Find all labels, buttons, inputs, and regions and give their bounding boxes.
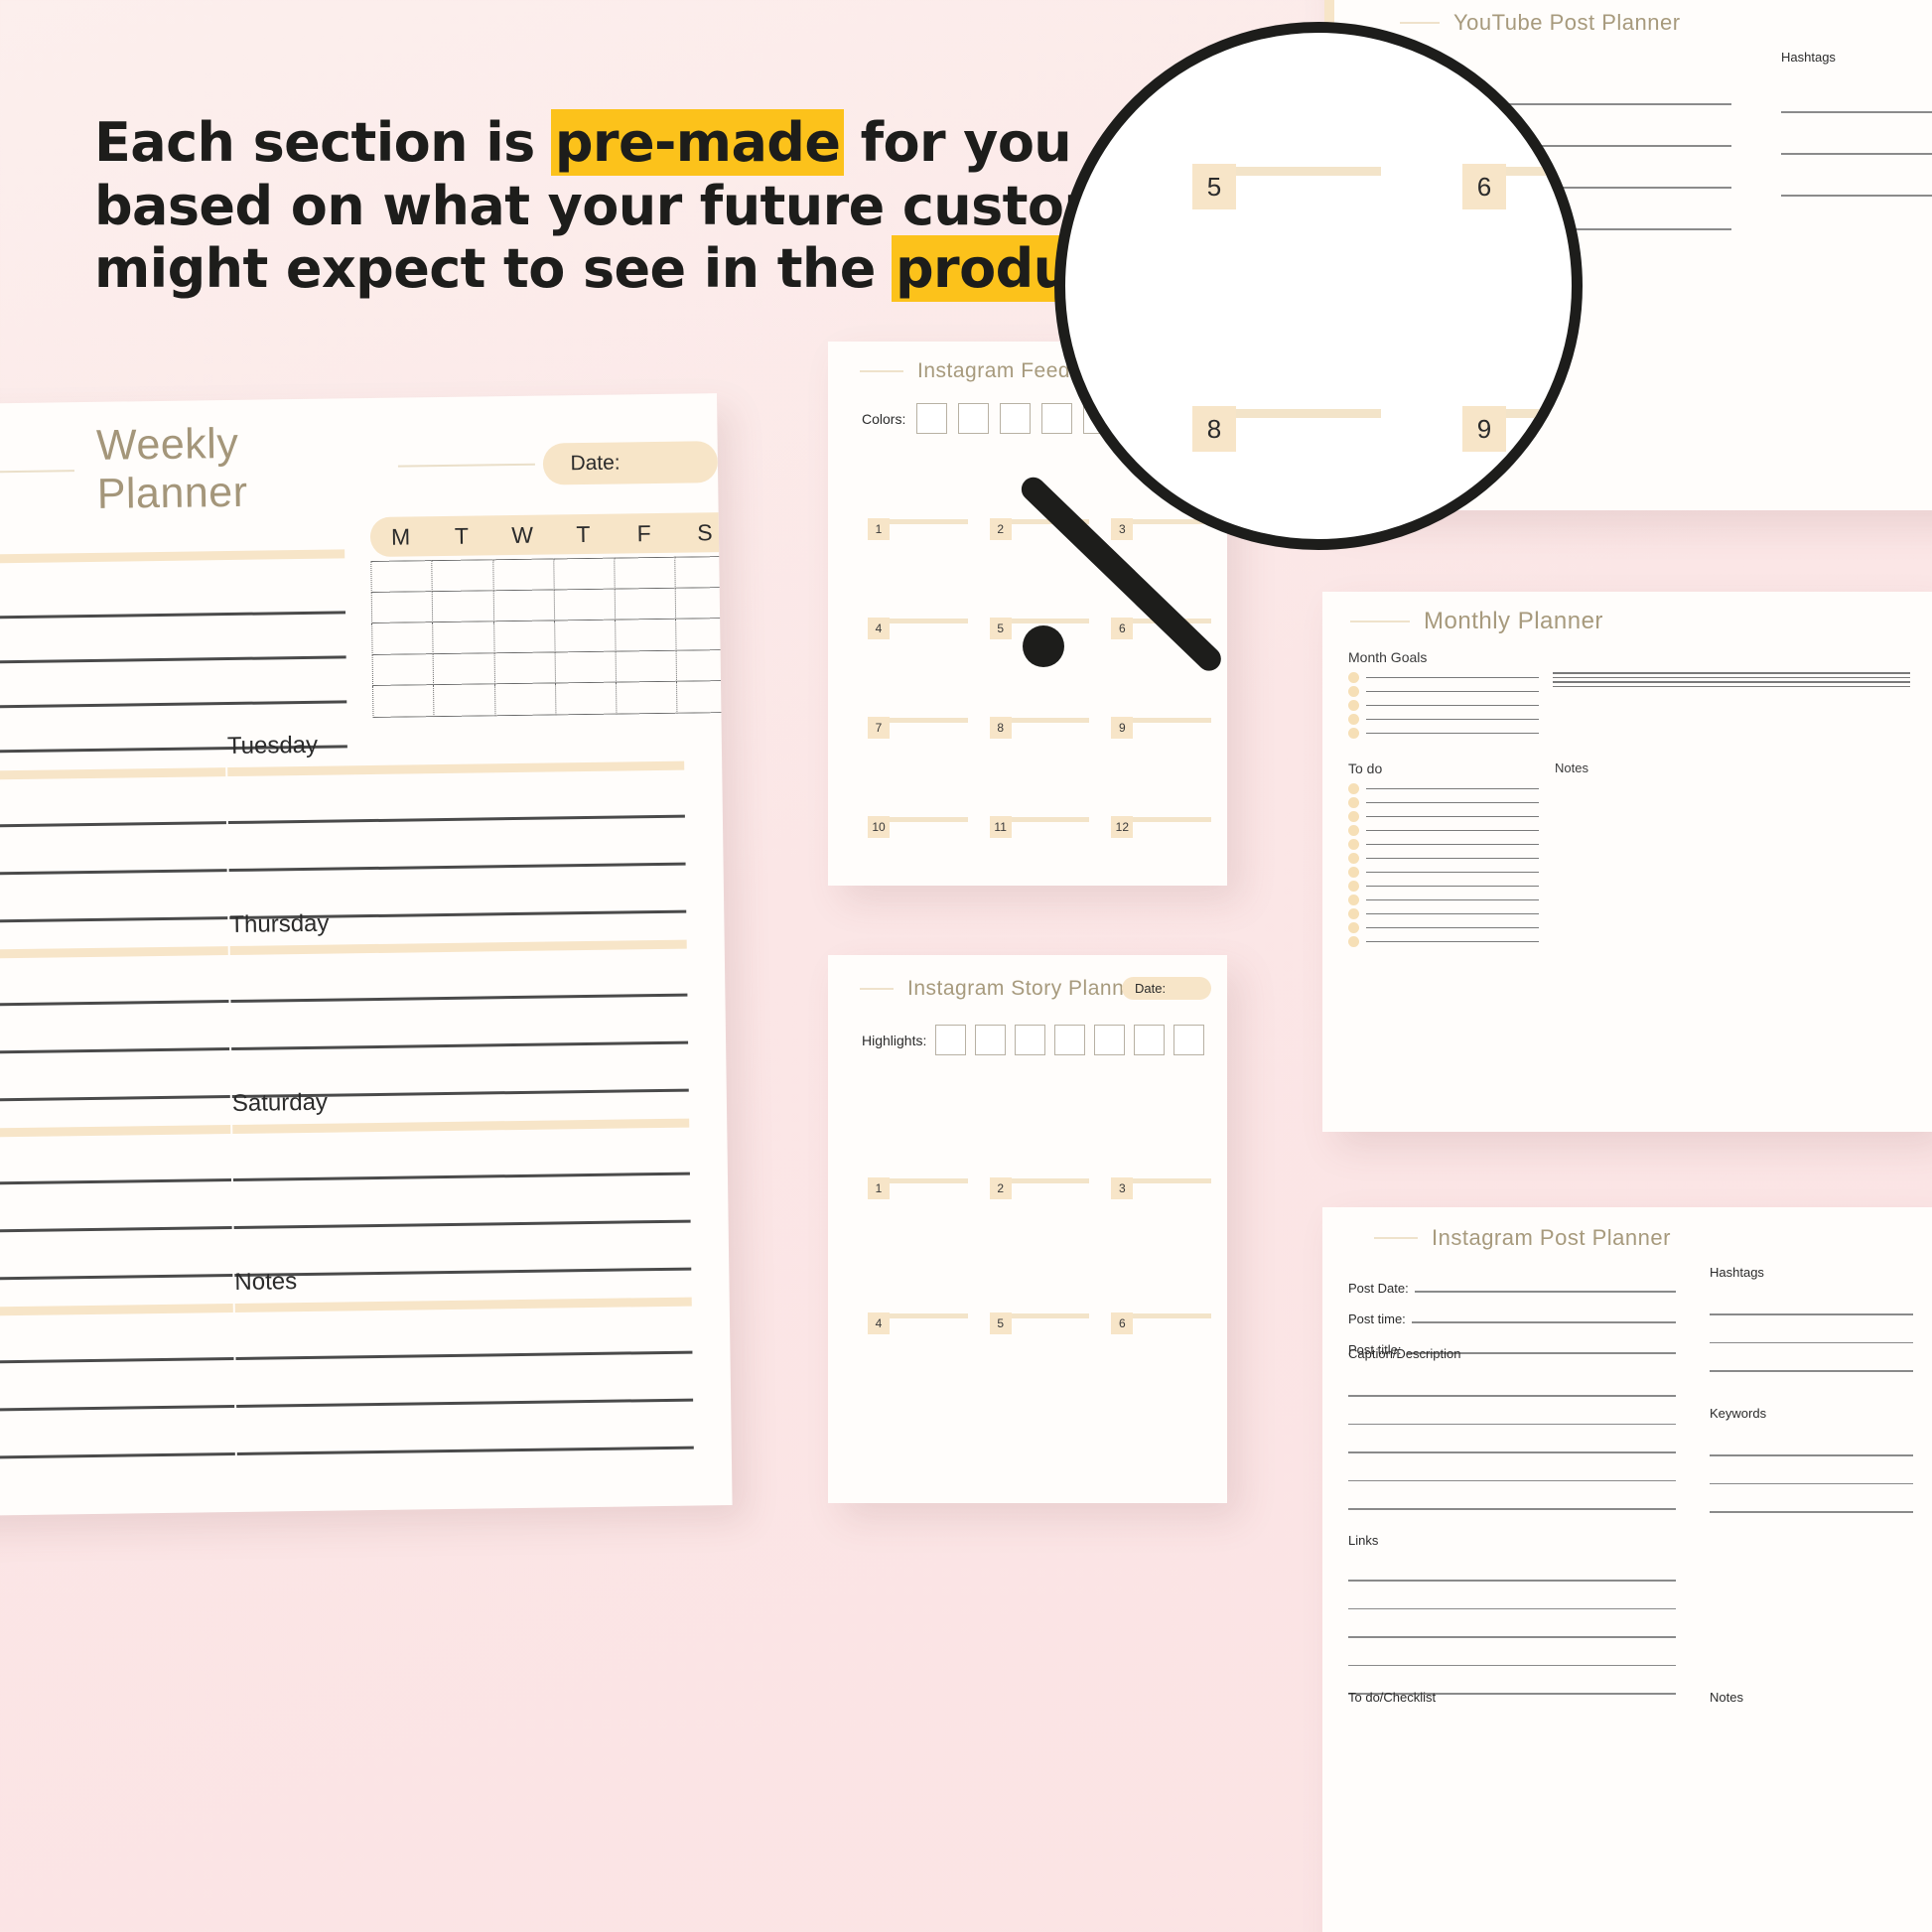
bullet-row[interactable] (1348, 867, 1539, 878)
headline-line-1: Each section is pre-made for you (94, 111, 1037, 175)
write-line[interactable] (1366, 705, 1539, 707)
cell-number: 6 (1111, 618, 1133, 639)
tracker-cell[interactable] (675, 587, 732, 619)
monthly-todo-label: To do (1348, 760, 1382, 776)
cell-number: 11 (990, 816, 1012, 838)
write-line[interactable] (1553, 672, 1910, 674)
cell-number: 9 (1462, 406, 1506, 452)
highlight-swatch[interactable] (1173, 1025, 1204, 1055)
story-cell[interactable]: 5 (990, 1209, 1090, 1334)
tracker-cell[interactable] (492, 558, 554, 590)
story-cell[interactable]: 2 (990, 1074, 1090, 1199)
tracker-cell[interactable] (371, 622, 433, 654)
story-cell[interactable]: 1 (868, 1074, 968, 1199)
highlight-swatch[interactable] (1015, 1025, 1045, 1055)
weekly-planner-title: Weekly Planner (96, 418, 377, 519)
post-fields: Post Date: Post time: Post title: (1348, 1265, 1676, 1357)
bullet-dot-icon (1348, 672, 1359, 683)
bullet-row[interactable] (1348, 811, 1539, 822)
bullet-row[interactable] (1348, 672, 1539, 683)
tracker-cell[interactable] (615, 620, 676, 651)
write-line[interactable] (0, 869, 227, 878)
magnified-cell: 6 (1462, 164, 1583, 209)
story-grid: 1 2 3 4 5 6 (868, 1074, 1211, 1334)
day-label: day (0, 733, 225, 766)
write-line[interactable] (0, 1405, 234, 1414)
cell-line (1012, 1178, 1090, 1183)
monthly-todo-list[interactable] (1348, 780, 1539, 947)
tracker-cell[interactable] (676, 650, 733, 682)
tracker-cell[interactable] (372, 654, 434, 686)
headline-text-1b: for you (842, 111, 1071, 174)
write-line[interactable] (237, 1447, 694, 1455)
day-accent-bar (0, 1125, 230, 1140)
story-date-field[interactable]: Date: (1122, 977, 1211, 1000)
cell-line (1236, 409, 1381, 418)
cell-number: 5 (990, 1312, 1012, 1334)
cell-line (890, 1178, 968, 1183)
write-line[interactable] (1366, 802, 1539, 804)
tracker-cell[interactable] (616, 651, 677, 683)
bullet-row[interactable] (1348, 686, 1539, 697)
write-line[interactable] (1366, 844, 1539, 846)
day-accent-bar (0, 767, 225, 782)
cell-line (1012, 1313, 1090, 1318)
bullet-row[interactable] (1553, 672, 1910, 674)
bullet-row[interactable] (1348, 895, 1539, 905)
bullet-row[interactable] (1553, 686, 1910, 688)
bullet-dot-icon (1348, 686, 1359, 697)
bullet-row[interactable] (1348, 728, 1539, 739)
bullet-dot-icon (1348, 922, 1359, 933)
cell-number: 12 (1111, 816, 1133, 838)
header-rule-left (0, 470, 74, 475)
bullet-row[interactable] (1348, 853, 1539, 864)
day-lines[interactable] (230, 994, 688, 1098)
tracker-cell[interactable] (555, 683, 617, 715)
cell-number: 9 (1111, 717, 1133, 739)
day-label: day (0, 1269, 233, 1303)
cell-number: 2 (990, 1177, 1012, 1199)
weekly-habit-tracker[interactable]: M T W T F S S (370, 511, 733, 718)
headline-line-3: might expect to see in the product. (94, 237, 1037, 301)
highlight-swatch[interactable] (1054, 1025, 1085, 1055)
cell-line (1133, 1178, 1211, 1183)
feed-cell[interactable]: 7 (868, 649, 968, 739)
color-swatch[interactable] (958, 403, 989, 434)
bullet-dot-icon (1348, 783, 1359, 794)
write-line[interactable] (0, 1452, 235, 1461)
tracker-cell[interactable] (432, 621, 493, 653)
day-accent-bar (230, 940, 687, 955)
monthly-goals-label: Month Goals (1348, 649, 1427, 665)
header-rule-right (398, 464, 534, 468)
post-notes-label: Notes (1710, 1690, 1743, 1705)
cell-line (890, 718, 968, 723)
write-line[interactable] (0, 655, 346, 666)
bullet-dot-icon (1348, 700, 1359, 711)
weekday-header-row: M T W T F S S (370, 511, 733, 557)
write-line[interactable] (1553, 681, 1910, 683)
write-line[interactable] (1415, 1291, 1676, 1293)
tracker-grid[interactable] (370, 555, 732, 718)
day-accent-bar (235, 1298, 692, 1312)
day-label: nesday (0, 911, 228, 945)
tracker-cell[interactable] (494, 684, 556, 716)
bullet-dot-icon (1348, 797, 1359, 808)
post-links-lines[interactable] (1348, 1553, 1676, 1695)
cell-line (1133, 718, 1211, 723)
monthly-planner-title: Monthly Planner (1424, 608, 1603, 635)
cell-line (890, 817, 968, 822)
write-line[interactable] (1710, 1313, 1913, 1315)
story-inner: Instagram Story Planner Date: Highlights… (828, 955, 1227, 1503)
weekly-goals-lines[interactable] (0, 569, 347, 756)
post-caption-lines[interactable] (1348, 1368, 1676, 1510)
bullet-row[interactable] (1348, 908, 1539, 919)
bullet-dot-icon (1348, 881, 1359, 892)
magnified-cell: 5 (1192, 164, 1381, 209)
magnified-cell: 9 (1462, 406, 1583, 452)
headline-highlight-premade: pre-made (553, 111, 843, 174)
write-line[interactable] (0, 1226, 232, 1235)
cell-number: 1 (868, 1177, 890, 1199)
cell-line (1133, 817, 1211, 822)
monthly-goals-list[interactable] (1348, 669, 1539, 739)
monthly-notes-list[interactable] (1553, 669, 1910, 687)
weekday-label-w: W (491, 521, 553, 549)
bullet-dot-icon (1348, 811, 1359, 822)
write-line[interactable] (1348, 1665, 1676, 1667)
tracker-cell[interactable] (675, 556, 733, 588)
write-line[interactable] (1348, 1608, 1676, 1610)
bullet-row[interactable] (1348, 881, 1539, 892)
cell-number: 3 (1111, 1177, 1133, 1199)
highlight-swatch[interactable] (1094, 1025, 1125, 1055)
weekly-planner-inner: Weekly Planner Date: Goals M T W T F (0, 393, 733, 1517)
story-planner-title-row: Instagram Story Planner (860, 977, 1144, 1001)
headline-text-1a: Each section is (94, 111, 553, 174)
day-lines[interactable] (228, 815, 686, 919)
write-line[interactable] (1710, 1342, 1913, 1344)
write-line[interactable] (1412, 1321, 1676, 1323)
feed-colors-label: Colors: (862, 411, 905, 427)
bullet-dot-icon (1348, 936, 1359, 947)
post-time-field[interactable]: Post time: (1348, 1311, 1676, 1326)
feed-cell[interactable]: 12 (1111, 749, 1211, 838)
feed-cell[interactable]: 4 (868, 550, 968, 639)
day-lines[interactable] (235, 1351, 693, 1455)
weekly-date-field[interactable]: Date: (542, 441, 718, 484)
day-label: Thursday (229, 905, 686, 939)
bullet-row[interactable] (1348, 922, 1539, 933)
tracker-cell[interactable] (493, 621, 555, 653)
write-line[interactable] (1781, 111, 1932, 113)
field-label: Post time: (1348, 1311, 1406, 1326)
cell-number: 10 (868, 816, 890, 838)
day-lines[interactable] (0, 1000, 230, 1104)
bullet-row[interactable] (1348, 700, 1539, 711)
cell-line (890, 519, 968, 524)
bullet-dot-icon (1348, 825, 1359, 836)
story-cell[interactable]: 4 (868, 1209, 968, 1334)
story-highlights-row: Highlights: (862, 1025, 1213, 1055)
feed-cell[interactable]: 10 (868, 749, 968, 838)
monthly-planner-title-row: Monthly Planner (1350, 608, 1603, 635)
story-cell[interactable]: 3 (1111, 1074, 1211, 1199)
post-todo-label: To do/Checklist (1348, 1690, 1436, 1705)
post-planner-title-row: Instagram Post Planner (1374, 1225, 1671, 1251)
cell-number: 5 (1192, 164, 1236, 209)
poster-canvas: Each section is pre-made for you based o… (0, 0, 1932, 1932)
write-line[interactable] (1366, 677, 1539, 679)
tracker-cell[interactable] (433, 653, 494, 685)
cell-number: 2 (990, 518, 1012, 540)
write-line[interactable] (234, 1220, 691, 1229)
magnifier-content: 5 6 8 9 (1065, 33, 1572, 539)
day-block-saturday[interactable]: Saturday (232, 1084, 692, 1277)
tracker-cell[interactable] (432, 559, 493, 591)
cell-number: 4 (868, 1312, 890, 1334)
magnifier-knob (1023, 625, 1064, 667)
field-label: Post Date: (1348, 1281, 1409, 1296)
page-headline: Each section is pre-made for you based o… (94, 111, 1037, 301)
cell-number: 6 (1111, 1312, 1133, 1334)
write-line[interactable] (0, 1000, 228, 1009)
day-block-friday[interactable]: ay (0, 1090, 232, 1283)
yt-hashtags-lines[interactable] (1781, 71, 1932, 197)
tracker-cell[interactable] (676, 681, 732, 713)
tracker-cell[interactable] (492, 590, 554, 621)
bullet-row[interactable] (1348, 783, 1539, 794)
tracker-cell[interactable] (615, 588, 676, 620)
cell-line (1012, 619, 1090, 623)
cell-line (890, 1313, 968, 1318)
bullet-row[interactable] (1348, 936, 1539, 947)
tracker-cell[interactable] (553, 558, 615, 590)
write-line[interactable] (1366, 886, 1539, 888)
day-label: ay (0, 1090, 230, 1124)
bullet-row[interactable] (1348, 825, 1539, 836)
write-line[interactable] (1366, 941, 1539, 943)
bullet-row[interactable] (1553, 681, 1910, 683)
highlight-swatch[interactable] (975, 1025, 1006, 1055)
weekly-goals-accent-bar (0, 549, 345, 566)
post-keywords-lines[interactable] (1710, 1428, 1913, 1513)
title-rule (1350, 621, 1410, 622)
day-lines[interactable] (0, 1178, 232, 1283)
day-accent-bar (227, 761, 684, 776)
cell-line (890, 619, 968, 623)
write-line[interactable] (1348, 1395, 1676, 1397)
day-label: Saturday (232, 1084, 689, 1118)
monthly-notes-label: Notes (1555, 760, 1588, 775)
bullet-dot-icon (1348, 895, 1359, 905)
write-line[interactable] (1710, 1454, 1913, 1456)
bullet-dot-icon (1348, 714, 1359, 725)
day-block-tuesday[interactable]: Tuesday (227, 727, 687, 919)
tracker-cell[interactable] (371, 592, 433, 623)
highlight-swatch[interactable] (935, 1025, 966, 1055)
write-line[interactable] (1348, 1451, 1676, 1453)
day-lines[interactable] (0, 1357, 235, 1461)
write-line[interactable] (1348, 1424, 1676, 1426)
write-line[interactable] (1366, 788, 1539, 790)
write-line[interactable] (1553, 686, 1910, 688)
title-rule (860, 370, 903, 372)
instagram-story-planner-card[interactable]: Instagram Story Planner Date: Highlights… (828, 955, 1227, 1503)
write-line[interactable] (1366, 733, 1539, 735)
write-line[interactable] (236, 1399, 693, 1408)
post-inner: Instagram Post Planner Post Date: Post t… (1322, 1207, 1932, 1932)
tracker-cell[interactable] (614, 557, 675, 589)
headline-text-3a: might expect to see in the (94, 237, 894, 300)
color-swatch[interactable] (916, 403, 947, 434)
post-hashtags-label: Hashtags (1710, 1265, 1764, 1280)
instagram-post-planner-card[interactable]: Instagram Post Planner Post Date: Post t… (1322, 1207, 1932, 1932)
post-caption-label: Caption/Description (1348, 1346, 1460, 1361)
weekly-planner-card[interactable]: Weekly Planner Date: Goals M T W T F (0, 393, 733, 1517)
tracker-cell[interactable] (432, 591, 493, 622)
cell-line (1236, 167, 1381, 176)
cell-number: 7 (868, 717, 890, 739)
post-date-field[interactable]: Post Date: (1348, 1281, 1676, 1296)
write-line[interactable] (1366, 927, 1539, 929)
feed-cell[interactable]: 1 (868, 451, 968, 540)
day-label: Tuesday (227, 727, 684, 760)
post-links-label: Links (1348, 1533, 1378, 1548)
write-line[interactable] (1366, 899, 1539, 901)
day-label: Notes (234, 1263, 691, 1297)
day-accent-bar (232, 1119, 689, 1134)
bullet-row[interactable] (1553, 677, 1910, 679)
feed-cell[interactable]: 11 (990, 749, 1090, 838)
write-line[interactable] (0, 1047, 229, 1056)
write-line[interactable] (229, 863, 686, 872)
cell-number: 6 (1462, 164, 1506, 209)
day-lines[interactable] (0, 821, 227, 925)
color-swatch[interactable] (1000, 403, 1031, 434)
write-line[interactable] (230, 994, 687, 1003)
tracker-cell[interactable] (676, 619, 733, 650)
cell-number: 8 (1192, 406, 1236, 452)
write-line[interactable] (1348, 1636, 1676, 1638)
write-line[interactable] (235, 1351, 692, 1360)
weekday-label-m: M (370, 523, 432, 551)
write-line[interactable] (1710, 1511, 1913, 1513)
write-line[interactable] (228, 815, 685, 824)
day-accent-bar (0, 946, 228, 961)
write-line[interactable] (1781, 153, 1932, 155)
write-line[interactable] (1781, 195, 1932, 197)
cell-line (1506, 167, 1583, 176)
weekday-label-f: F (614, 519, 675, 547)
cell-number: 8 (990, 717, 1012, 739)
write-line[interactable] (0, 700, 346, 711)
bullet-dot-icon (1348, 728, 1359, 739)
post-hashtags-lines[interactable] (1710, 1287, 1913, 1372)
bullet-row[interactable] (1348, 839, 1539, 850)
post-keywords-label: Keywords (1710, 1406, 1766, 1421)
cell-number: 1 (868, 518, 890, 540)
day-block-monday[interactable]: day (0, 733, 227, 925)
write-line[interactable] (1348, 1480, 1676, 1482)
write-line[interactable] (0, 821, 226, 830)
write-line[interactable] (233, 1173, 690, 1181)
write-line[interactable] (1366, 913, 1539, 915)
cell-line (1012, 817, 1090, 822)
write-line[interactable] (0, 1357, 234, 1366)
weekday-label-t1: T (431, 522, 492, 550)
write-line[interactable] (1710, 1370, 1913, 1372)
tracker-cell[interactable] (554, 589, 616, 621)
cell-line (1506, 409, 1583, 418)
day-block-thursday[interactable]: Thursday (229, 905, 689, 1098)
write-line[interactable] (1710, 1483, 1913, 1485)
day-accent-bar (0, 1304, 233, 1318)
bullet-dot-icon (1348, 839, 1359, 850)
weekday-label-t2: T (553, 520, 615, 548)
cell-line (1133, 1313, 1211, 1318)
write-line[interactable] (0, 611, 345, 621)
write-line[interactable] (0, 1178, 231, 1187)
bullet-row[interactable] (1348, 797, 1539, 808)
magnifier-lens: 5 6 8 9 (1054, 22, 1583, 550)
write-line[interactable] (1366, 691, 1539, 693)
weekly-planner-header: Weekly Planner Date: (0, 439, 718, 496)
story-planner-title: Instagram Story Planner (907, 977, 1144, 1001)
monthly-planner-card[interactable]: Monthly Planner Month Goals To do Notes (1322, 592, 1932, 1132)
title-rule (860, 988, 894, 990)
tracker-cell[interactable] (554, 621, 616, 652)
write-line[interactable] (1348, 1508, 1676, 1510)
post-planner-title: Instagram Post Planner (1432, 1225, 1671, 1251)
magnified-cell: 8 (1192, 406, 1381, 452)
yt-hashtags-label: Hashtags (1781, 50, 1836, 65)
day-block-sunday[interactable]: day (0, 1269, 235, 1461)
tracker-cell[interactable] (554, 651, 616, 683)
headline-line-2: based on what your future customers (94, 175, 1037, 238)
write-line[interactable] (1366, 719, 1539, 721)
write-line[interactable] (1348, 1580, 1676, 1582)
bullet-dot-icon (1348, 853, 1359, 864)
highlight-swatch[interactable] (1134, 1025, 1165, 1055)
day-lines[interactable] (233, 1173, 691, 1277)
tracker-cell[interactable] (372, 686, 434, 718)
day-block-notes[interactable]: Notes (234, 1263, 694, 1455)
tracker-cell[interactable] (493, 652, 555, 684)
story-cell[interactable]: 6 (1111, 1209, 1211, 1334)
write-line[interactable] (1366, 858, 1539, 860)
day-block-wednesday[interactable]: nesday (0, 911, 230, 1104)
monthly-inner: Monthly Planner Month Goals To do Notes (1322, 592, 1932, 1132)
write-line[interactable] (1366, 872, 1539, 874)
bullet-dot-icon (1348, 867, 1359, 878)
write-line[interactable] (1366, 816, 1539, 818)
write-line[interactable] (231, 1041, 688, 1050)
cell-line (1012, 718, 1090, 723)
tracker-cell[interactable] (433, 685, 494, 717)
magnifier-glass[interactable]: 5 6 8 9 (1054, 22, 1583, 550)
write-line[interactable] (1553, 677, 1910, 679)
cell-number: 4 (868, 618, 890, 639)
tracker-cell[interactable] (616, 682, 677, 714)
tracker-cell[interactable] (370, 560, 432, 592)
write-line[interactable] (1366, 830, 1539, 832)
cell-number: 5 (990, 618, 1012, 639)
weekday-label-s1: S (674, 518, 732, 546)
bullet-row[interactable] (1348, 714, 1539, 725)
